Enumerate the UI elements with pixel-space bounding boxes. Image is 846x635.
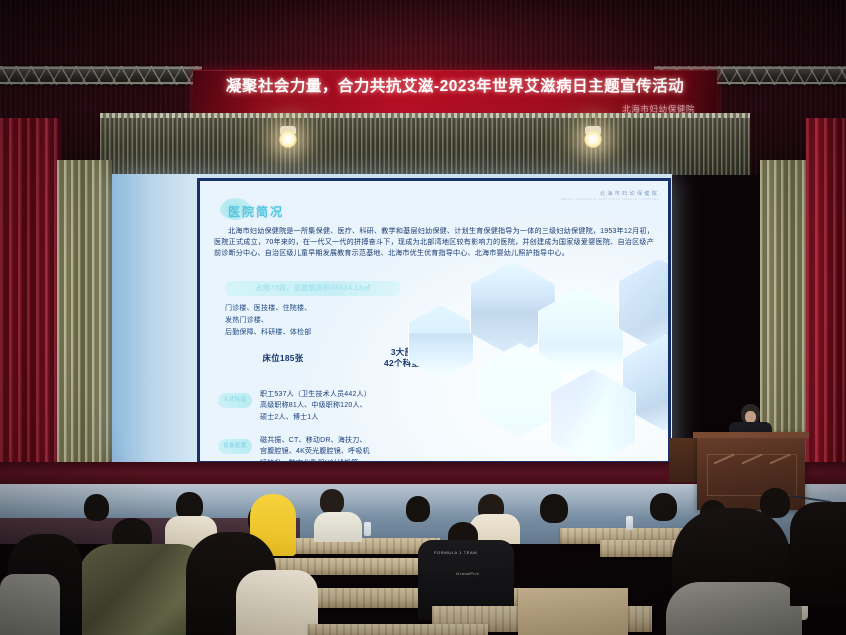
stat-beds: 床位185张: [228, 353, 338, 364]
stage-curtain-red-left: [0, 118, 62, 480]
valance-pleats: [100, 113, 750, 175]
section-tag-staff-label: 人才队伍: [218, 393, 252, 408]
truss-rail-top: [0, 67, 202, 69]
hexagon-photo-collage: [450, 265, 668, 461]
slide-title: 医院简况: [228, 203, 284, 220]
audience-person-longhair-edge: [790, 502, 846, 606]
section-body-equipment: 磁共振、CT、移动DR、海扶刀、 宫腹腔镜、4K荧光腹腔镜、呼吸机 镜扶升、数字…: [260, 435, 472, 461]
audience-head: [320, 489, 344, 514]
audience-head: [650, 493, 677, 521]
section-tag-staff: 人才队伍: [218, 393, 252, 408]
slide-title-group: 医院简况: [228, 203, 284, 220]
curtain-pleats: [806, 118, 846, 490]
jersey-print-line1: FORMULA 1 TEAM: [434, 550, 477, 555]
truss-rail-bottom: [0, 82, 202, 84]
collage-photo-ct-scanner-upper: [618, 259, 668, 351]
projection-light-bleed: [112, 174, 200, 462]
audience-person-torso: [0, 574, 60, 635]
audience-person-grey-coat: [666, 582, 802, 635]
auditorium-photo: 凝聚社会力量，合力共抗艾滋-2023年世界艾滋病日主题宣传活动 北海市妇幼保健院…: [0, 0, 846, 635]
projection-screen: 北海市妇幼保健院 BEIHAI MATERNAL AND CHILD HEALT…: [112, 174, 672, 462]
campus-area-text: 占地70亩，总建筑面积45814.13㎡: [225, 281, 401, 296]
ceiling-lamp-right: [580, 118, 606, 152]
ceiling-lamp-left: [275, 118, 301, 152]
stage-curtain-red-right: [806, 118, 846, 490]
campus-area-pill: 占地70亩，总建筑面积45814.13㎡: [225, 281, 401, 296]
truss-rail-top: [654, 67, 846, 69]
event-banner: 凝聚社会力量，合力共抗艾滋-2023年世界艾滋病日主题宣传活动 北海市妇幼保健院: [193, 70, 717, 116]
valance-scallop-trim: [100, 113, 750, 118]
slide-frame: 北海市妇幼保健院 BEIHAI MATERNAL AND CHILD HEALT…: [197, 178, 671, 464]
audience-head: [540, 494, 568, 523]
presentation-slide: 北海市妇幼保健院 BEIHAI MATERNAL AND CHILD HEALT…: [200, 181, 668, 461]
slide-paragraph: 北海市妇幼保健院是一所集保健、医疗、科研、教学和基层妇幼保健、计划生育保健指导为…: [214, 226, 654, 259]
jersey-print-line2: GrandPrix: [456, 571, 479, 576]
audience-head: [406, 496, 430, 522]
podium-top: [693, 432, 809, 438]
lamp-bulb: [584, 131, 602, 149]
stage-curtain-olive-left: [57, 160, 112, 472]
audience-person-torso: [314, 512, 362, 542]
curtain-pleats: [57, 160, 112, 472]
section-tag-equipment-label: 设备配置: [218, 439, 252, 454]
hospital-logo-subname: BEIHAI MATERNAL AND CHILD HEALTH HOSPITA…: [562, 198, 660, 201]
section-tag-equipment: 设备配置: [218, 439, 252, 454]
hospital-logo: 北海市妇幼保健院 BEIHAI MATERNAL AND CHILD HEALT…: [562, 192, 660, 201]
lamp-bulb: [279, 131, 297, 149]
lighting-truss-left: [0, 66, 202, 85]
audience-head: [84, 494, 109, 521]
bench-bag: [518, 588, 628, 635]
water-bottle: [626, 516, 633, 530]
curtain-pleats: [0, 118, 62, 480]
audience-person-torso: [236, 570, 318, 635]
bench-texture: [308, 624, 488, 635]
bench-row-front-left: [308, 624, 488, 635]
water-bottle: [364, 522, 371, 536]
stage-valance: [100, 113, 750, 175]
audience-area: FORMULA 1 TEAM GrandPrix: [0, 488, 846, 635]
event-banner-title: 凝聚社会力量，合力共抗艾滋-2023年世界艾滋病日主题宣传活动: [193, 74, 717, 96]
section-body-staff: 职工537人（卫生技术人员442人） 高级职称81人、中级职称120人、 硕士2…: [260, 389, 472, 423]
